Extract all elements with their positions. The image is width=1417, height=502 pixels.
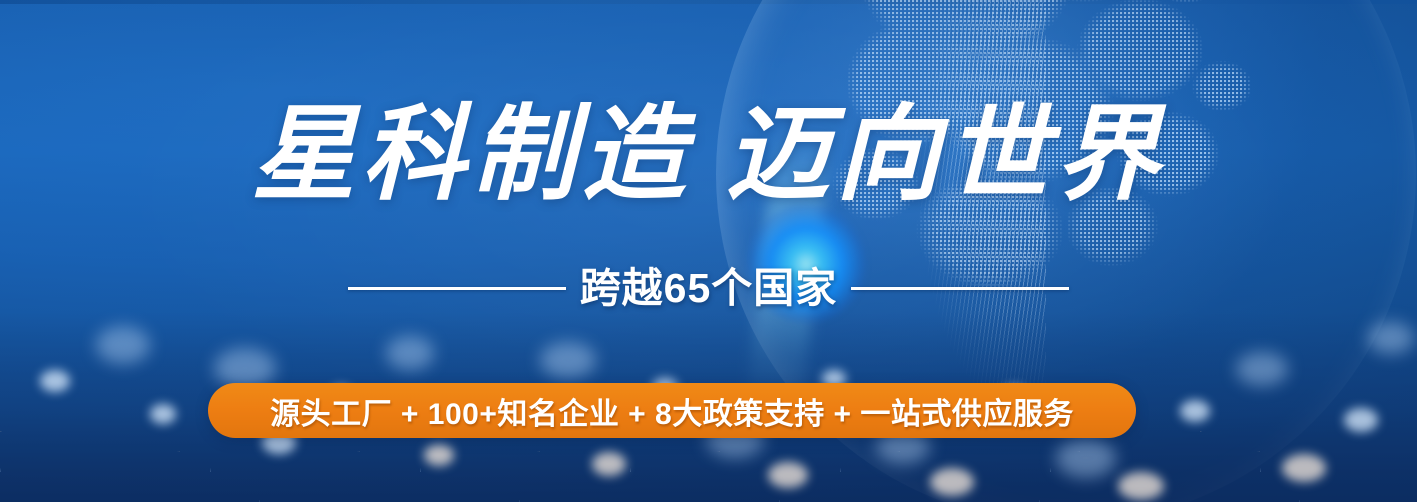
banner-content: 星科制造迈向世界 跨越65个国家 源头工厂 + 100+知名企业 + 8大政策支…: [0, 0, 1417, 502]
page-title: 星科制造迈向世界: [0, 104, 1417, 208]
headline-part-1: 星科制造: [251, 98, 691, 213]
highlights-pill-label: 源头工厂 + 100+知名企业 + 8大政策支持 + 一站式供应服务: [270, 389, 1074, 433]
headline-part-2: 迈向世界: [726, 98, 1166, 213]
promo-banner: 星科制造迈向世界 跨越65个国家 源头工厂 + 100+知名企业 + 8大政策支…: [0, 0, 1417, 502]
subtitle-row: 跨越65个国家: [0, 266, 1417, 311]
highlights-pill[interactable]: 源头工厂 + 100+知名企业 + 8大政策支持 + 一站式供应服务: [208, 383, 1136, 438]
subtitle-text: 跨越65个国家: [580, 266, 838, 311]
right-rule-icon: [851, 287, 1069, 290]
left-rule-icon: [348, 287, 566, 290]
